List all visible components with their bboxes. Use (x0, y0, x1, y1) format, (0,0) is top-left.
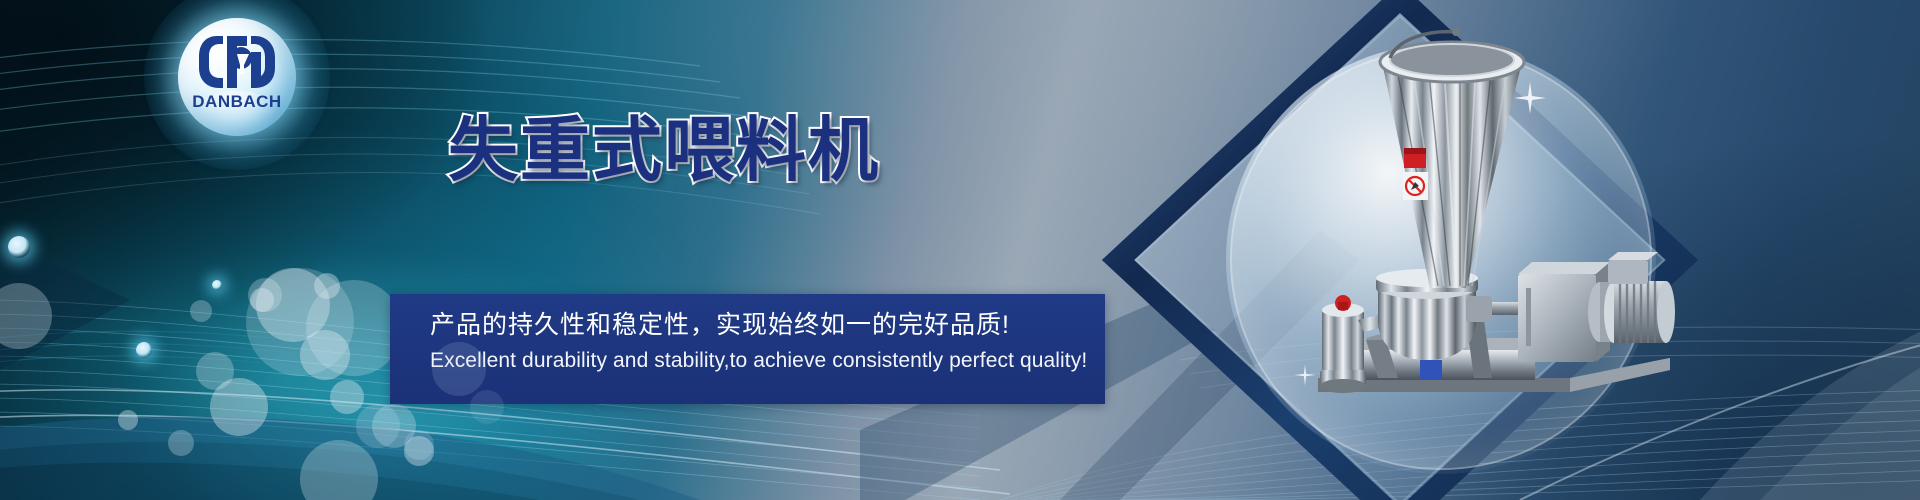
bubble (470, 390, 504, 424)
brand-wordmark: DANBACH (178, 92, 296, 112)
glow-dot (8, 236, 30, 258)
bubble (404, 430, 434, 460)
bubble (118, 410, 138, 430)
product-banner: DANBACH 失重式喂料机 产品的持久性和稳定性，实现始终如一的完好品质! E… (0, 0, 1920, 500)
danbach-emblem-icon (195, 32, 279, 94)
subtitle-box: 产品的持久性和稳定性，实现始终如一的完好品质! Excellent durabi… (390, 294, 1105, 404)
subtitle-chinese: 产品的持久性和稳定性，实现始终如一的完好品质! (430, 310, 1105, 340)
bubble (432, 342, 486, 396)
product-showcase (1080, 0, 1720, 500)
bubble (356, 404, 400, 448)
bubble (246, 268, 354, 376)
blue-marker (1420, 360, 1442, 380)
glow-dot (136, 342, 152, 358)
brand-logo: DANBACH (178, 18, 296, 136)
bubble (190, 300, 212, 322)
bubble (168, 430, 194, 456)
bubble (330, 380, 364, 414)
product-image-loss-in-weight-feeder (1270, 20, 1690, 450)
bubble (210, 378, 268, 436)
page-title: 失重式喂料机 (448, 115, 880, 185)
subtitle-english: Excellent durability and stability,to ac… (430, 349, 1105, 373)
glow-dot (212, 280, 222, 290)
